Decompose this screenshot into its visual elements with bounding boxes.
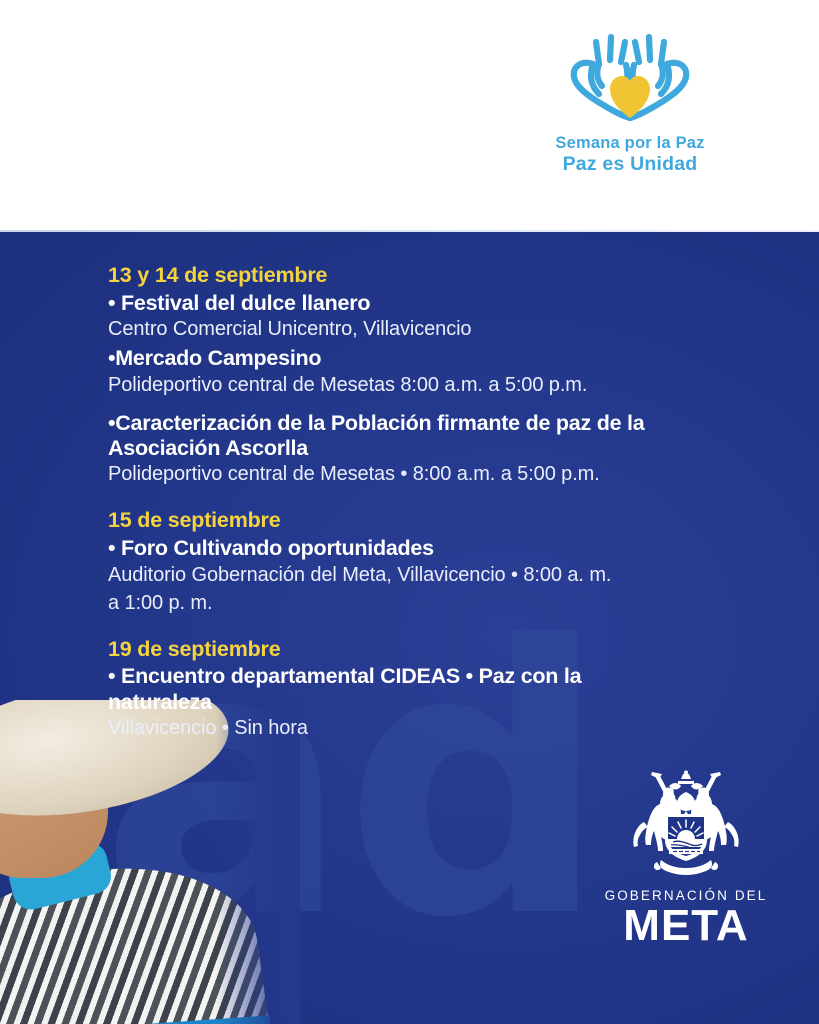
event-detail: Villavicencio • Sin hora — [108, 715, 768, 741]
schedule-date: 15 de septiembre — [108, 507, 768, 534]
semana-por-la-paz-logo: Semana por la Paz Paz es Unidad — [500, 24, 760, 204]
event-detail: Polideportivo central de Mesetas • 8:00 … — [108, 461, 768, 487]
schedule-event: • Encuentro departamental CIDEAS • Paz c… — [108, 664, 768, 741]
event-title: •Mercado Campesino — [108, 346, 768, 371]
event-title: • Festival del dulce llanero — [108, 291, 768, 316]
schedule-event: • Foro Cultivando oportunidades Auditori… — [108, 536, 768, 615]
schedule-event: •Caracterización de la Población firmant… — [108, 411, 768, 488]
gobernacion-title: META — [596, 904, 776, 949]
schedule-date: 19 de septiembre — [108, 636, 768, 663]
event-detail-cont: a 1:00 p. m. — [108, 590, 768, 616]
event-title: •Caracterización de la Población firmant… — [108, 411, 768, 436]
schedule-list: 13 y 14 de septiembre • Festival del dul… — [108, 262, 768, 745]
photo-fade-overlay — [216, 700, 300, 1024]
schedule-event: • Festival del dulce llanero Centro Come… — [108, 291, 768, 342]
spacer — [108, 402, 768, 411]
event-title: • Foro Cultivando oportunidades — [108, 536, 768, 561]
event-title-cont: naturaleza — [108, 690, 768, 715]
schedule-date: 13 y 14 de septiembre — [108, 262, 768, 289]
event-detail: Polideportivo central de Mesetas 8:00 a.… — [108, 372, 768, 398]
paz-logo-line1: Semana por la Paz — [500, 134, 760, 153]
event-detail: Centro Comercial Unicentro, Villavicenci… — [108, 316, 768, 342]
poster-canvas: ad — [0, 0, 819, 1024]
paz-logo-line2: Paz es Unidad — [500, 153, 760, 176]
gobernacion-meta-logo: GOBERNACIÓN DEL META — [596, 770, 776, 949]
man-with-white-hat-photo — [0, 700, 300, 1024]
event-detail: Auditorio Gobernación del Meta, Villavic… — [108, 562, 768, 588]
event-title-cont: Asociación Ascorlla — [108, 436, 768, 461]
schedule-event: •Mercado Campesino Polideportivo central… — [108, 346, 768, 397]
hands-heart-icon — [555, 24, 705, 130]
event-title: • Encuentro departamental CIDEAS • Paz c… — [108, 664, 768, 689]
meta-coat-of-arms-icon — [621, 770, 751, 882]
